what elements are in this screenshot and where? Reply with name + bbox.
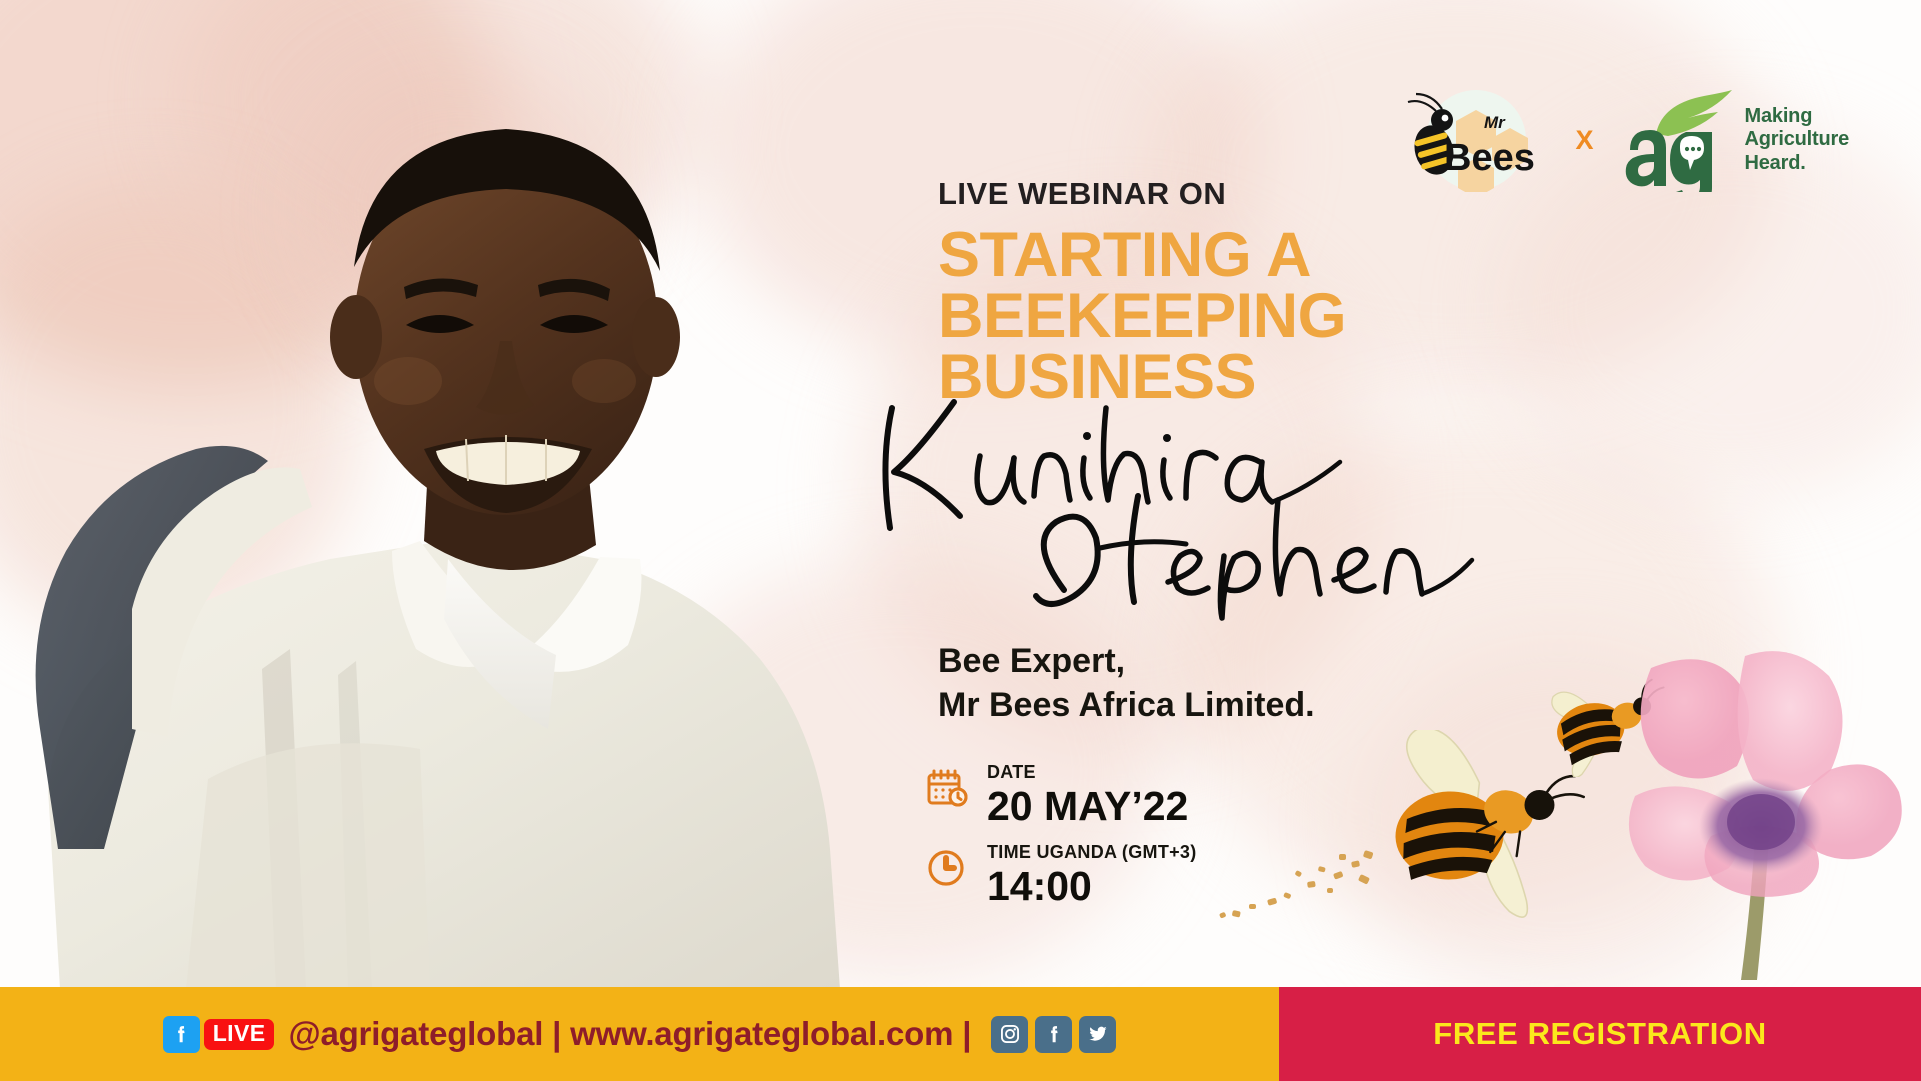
facebook-icon[interactable] <box>163 1016 200 1053</box>
mr-bees-logo: Mr Bees <box>1398 88 1548 192</box>
mrbees-mr-text: Mr <box>1484 113 1506 132</box>
honeybee-illustration <box>1360 730 1610 920</box>
role-line-2: Mr Bees Africa Limited. <box>938 684 1315 728</box>
facebook-icon[interactable] <box>1035 1016 1072 1053</box>
title-line-2: BEEKEEPING <box>938 286 1498 347</box>
watercolor-wash <box>1350 640 1770 1000</box>
speaker-signature <box>868 400 1488 620</box>
time-label: TIME UGANDA (GMT+3) <box>987 842 1197 863</box>
twitter-icon[interactable] <box>1079 1016 1116 1053</box>
ag-tagline-line-3: Heard. <box>1745 152 1849 175</box>
instagram-icon[interactable] <box>991 1016 1028 1053</box>
logo-separator: X <box>1576 125 1594 156</box>
speaker-portrait-beekeeper <box>0 89 880 989</box>
event-time-row: TIME UGANDA (GMT+3) 14:00 <box>925 842 1197 908</box>
webinar-title: STARTING A BEEKEEPING BUSINESS <box>938 225 1498 408</box>
pink-watercolor-flower <box>1615 640 1915 980</box>
social-handle-text[interactable]: @agrigateglobal | www.agrigateglobal.com… <box>288 1015 971 1053</box>
date-label: DATE <box>987 762 1188 783</box>
ag-tagline: Making Agriculture Heard. <box>1745 105 1849 175</box>
date-value: 20 MAY’22 <box>987 785 1188 828</box>
title-line-3: BUSINESS <box>938 347 1498 408</box>
footer-bar: LIVE @agrigateglobal | www.agrigategloba… <box>0 987 1921 1081</box>
time-value: 14:00 <box>987 865 1197 908</box>
ag-tagline-line-1: Making <box>1745 105 1849 128</box>
footer-contact-bar: LIVE @agrigateglobal | www.agrigategloba… <box>0 987 1279 1081</box>
calendar-clock-icon <box>925 766 969 810</box>
ag-mark-icon <box>1622 88 1734 192</box>
title-line-1: STARTING A <box>938 225 1498 286</box>
event-details: DATE 20 MAY’22 TIME UGANDA (GMT+3) 14:00 <box>925 762 1197 922</box>
social-icon-group <box>991 1016 1116 1053</box>
live-badge-label: LIVE <box>204 1019 275 1050</box>
speaker-role: Bee Expert, Mr Bees Africa Limited. <box>938 640 1315 727</box>
logo-lockup: Mr Bees X Making Agriculture Heard <box>1398 88 1850 192</box>
event-date-row: DATE 20 MAY’22 <box>925 762 1197 828</box>
mrbees-name-text: Bees <box>1444 137 1535 179</box>
headline-block: LIVE WEBINAR ON STARTING A BEEKEEPING BU… <box>938 178 1498 408</box>
free-registration-cta[interactable]: FREE REGISTRATION <box>1279 987 1921 1081</box>
pollen-specks <box>1215 840 1395 930</box>
role-line-1: Bee Expert, <box>938 640 1315 684</box>
honeybee-illustration <box>1540 672 1675 777</box>
cta-label: FREE REGISTRATION <box>1433 1016 1766 1052</box>
ag-tagline-line-2: Agriculture <box>1745 128 1849 151</box>
agrigate-logo: Making Agriculture Heard. <box>1622 88 1849 192</box>
facebook-live-badge[interactable]: LIVE <box>163 1016 275 1053</box>
clock-icon <box>925 846 969 890</box>
webinar-poster: LIVE WEBINAR ON STARTING A BEEKEEPING BU… <box>0 0 1921 1081</box>
